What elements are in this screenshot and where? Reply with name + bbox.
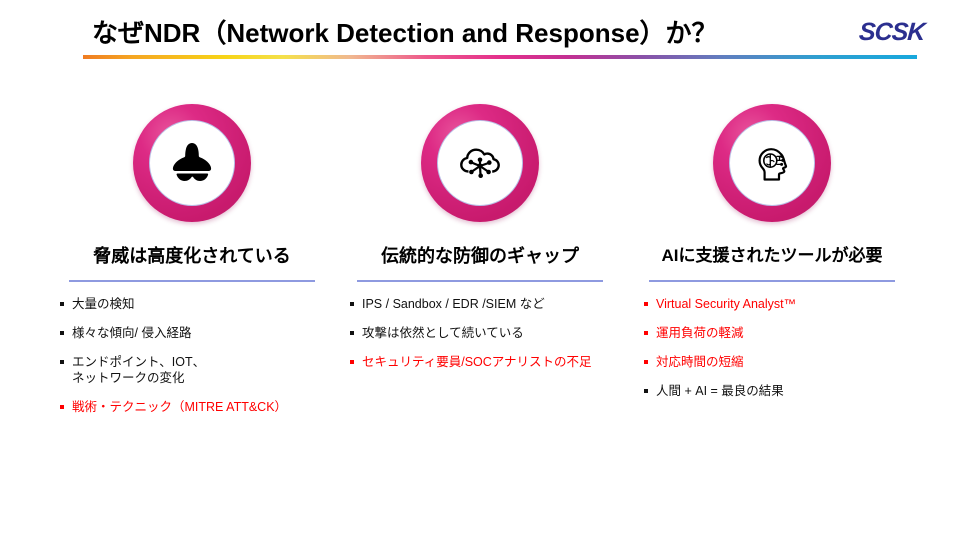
list-item: 様々な傾向/ 侵入経路 [60,325,342,341]
list-item: 戦術・テクニック（MITRE ATT&CK） [60,399,342,415]
scsk-logo: SCSK [858,18,925,47]
icon-badge-defense-gap [421,104,539,222]
column-ai-tools: AIに支援されたツールが必要 Virtual Security Analyst™… [622,90,922,412]
column-defense-gap: 伝統的な防御のギャップ IPS / Sandbox / EDR /SIEM など… [330,90,630,383]
list-item: Virtual Security Analyst™ [644,296,922,312]
list-item: 大量の検知 [60,296,342,312]
bullet-list-ai-tools: Virtual Security Analyst™ 運用負荷の軽減 対応時間の短… [622,296,922,399]
column-divider [357,280,603,282]
column-threats: 脅威は高度化されている 大量の検知 様々な傾向/ 侵入経路 エンドポイント、IO… [42,90,342,428]
icon-badge-threats [133,104,251,222]
list-item: 対応時間の短縮 [644,354,922,370]
slide-header: なぜNDR（Network Detection and Response）か？ … [0,0,960,62]
column-heading: AIに支援されたツールが必要 [622,244,922,268]
list-item: セキュリティ要員/SOCアナリストの不足 [350,354,630,370]
list-item: エンドポイント、IOT、 ネットワークの変化 [60,354,342,386]
column-heading: 伝統的な防御のギャップ [330,244,630,268]
column-heading: 脅威は高度化されている [42,244,342,268]
bullet-list-threats: 大量の検知 様々な傾向/ 侵入経路 エンドポイント、IOT、 ネットワークの変化… [42,296,342,415]
bullet-list-defense-gap: IPS / Sandbox / EDR /SIEM など 攻撃は依然として続いて… [330,296,630,370]
hacker-hat-icon [149,120,235,206]
header-gradient-rule [83,55,917,59]
ai-brain-head-icon [729,120,815,206]
column-divider [649,280,895,282]
list-item: 攻撃は依然として続いている [350,325,630,341]
content-columns: 脅威は高度化されている 大量の検知 様々な傾向/ 侵入経路 エンドポイント、IO… [0,90,960,510]
column-divider [69,280,315,282]
list-item: 人間 + AI = 最良の結果 [644,383,922,399]
page-title: なぜNDR（Network Detection and Response）か？ [92,16,718,50]
list-item: IPS / Sandbox / EDR /SIEM など [350,296,630,312]
list-item: 運用負荷の軽減 [644,325,922,341]
icon-badge-ai-tools [713,104,831,222]
cloud-network-icon [437,120,523,206]
